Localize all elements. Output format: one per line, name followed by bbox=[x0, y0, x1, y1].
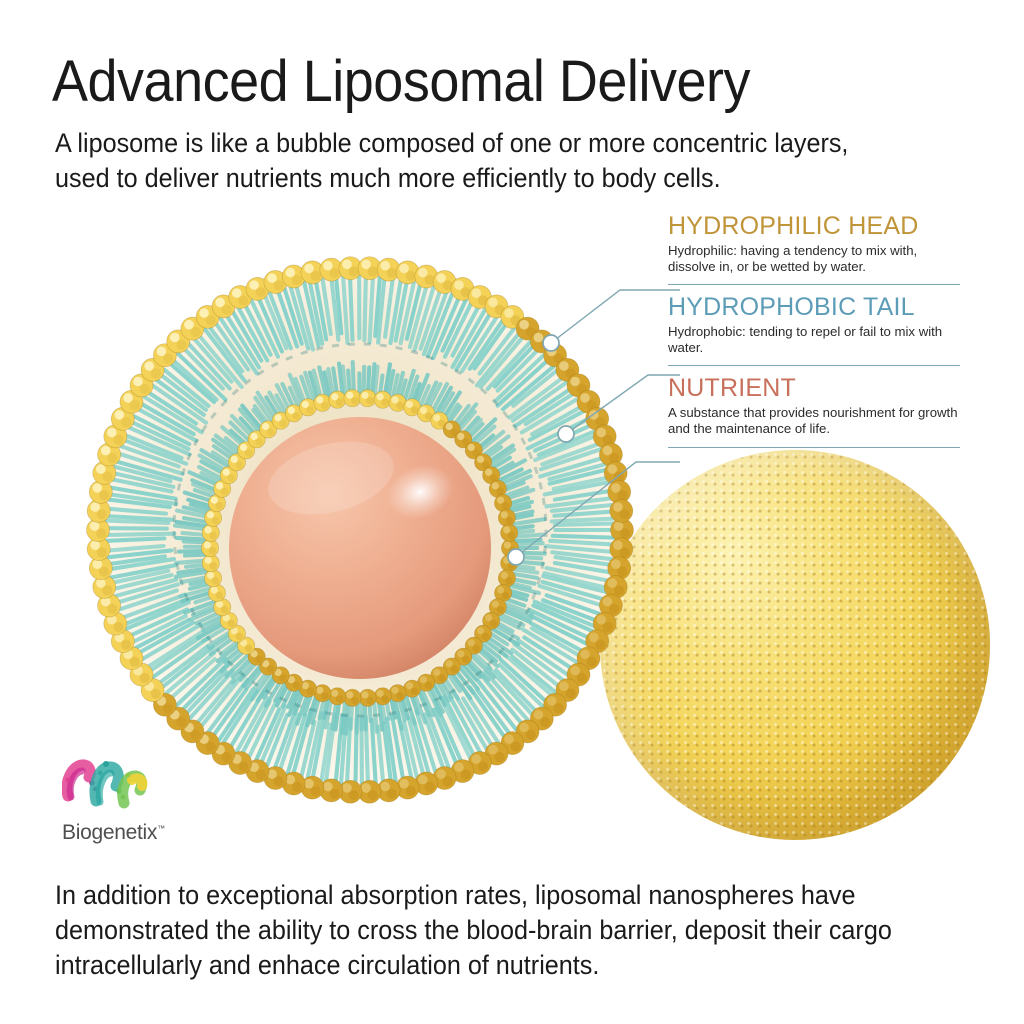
leader-dot-hydrophobic-tail bbox=[558, 426, 574, 442]
callout-body-hydrophilic-head: Hydrophilic: having a tendency to mix wi… bbox=[668, 243, 958, 274]
callout-divider bbox=[668, 365, 960, 366]
callout-divider bbox=[668, 284, 960, 285]
footer-paragraph: In addition to exceptional absorption ra… bbox=[55, 878, 939, 983]
callout-nutrient: NUTRIENT A substance that provides nouri… bbox=[668, 374, 968, 447]
callout-hydrophilic-head: HYDROPHILIC HEAD Hydrophilic: having a t… bbox=[668, 212, 968, 285]
leader-dot-nutrient bbox=[508, 549, 524, 565]
biogenetix-mark-icon bbox=[62, 756, 148, 814]
page-subtitle: A liposome is like a bubble composed of … bbox=[55, 126, 901, 196]
callout-body-hydrophobic-tail: Hydrophobic: tending to repel or fail to… bbox=[668, 324, 958, 355]
leader-line-nutrient bbox=[516, 462, 680, 557]
callout-divider bbox=[668, 447, 960, 448]
callout-heading-hydrophilic-head: HYDROPHILIC HEAD bbox=[668, 212, 968, 240]
callout-body-nutrient: A substance that provides nourishment fo… bbox=[668, 405, 958, 436]
biogenetix-wordmark: Biogenetix™ bbox=[62, 821, 192, 845]
logo-trademark: ™ bbox=[157, 824, 165, 833]
brand-logo: Biogenetix™ bbox=[62, 756, 192, 845]
callout-panel: HYDROPHILIC HEAD Hydrophilic: having a t… bbox=[668, 212, 968, 456]
leader-line-hydrophobic-tail bbox=[566, 375, 680, 434]
callout-heading-nutrient: NUTRIENT bbox=[668, 374, 968, 402]
leader-line-hydrophilic-head bbox=[551, 290, 680, 343]
leader-dot-hydrophilic-head bbox=[543, 335, 559, 351]
callout-hydrophobic-tail: HYDROPHOBIC TAIL Hydrophobic: tending to… bbox=[668, 293, 968, 366]
callout-heading-hydrophobic-tail: HYDROPHOBIC TAIL bbox=[668, 293, 968, 321]
logo-name: Biogenetix bbox=[62, 821, 157, 844]
page-title: Advanced Liposomal Delivery bbox=[52, 48, 750, 115]
